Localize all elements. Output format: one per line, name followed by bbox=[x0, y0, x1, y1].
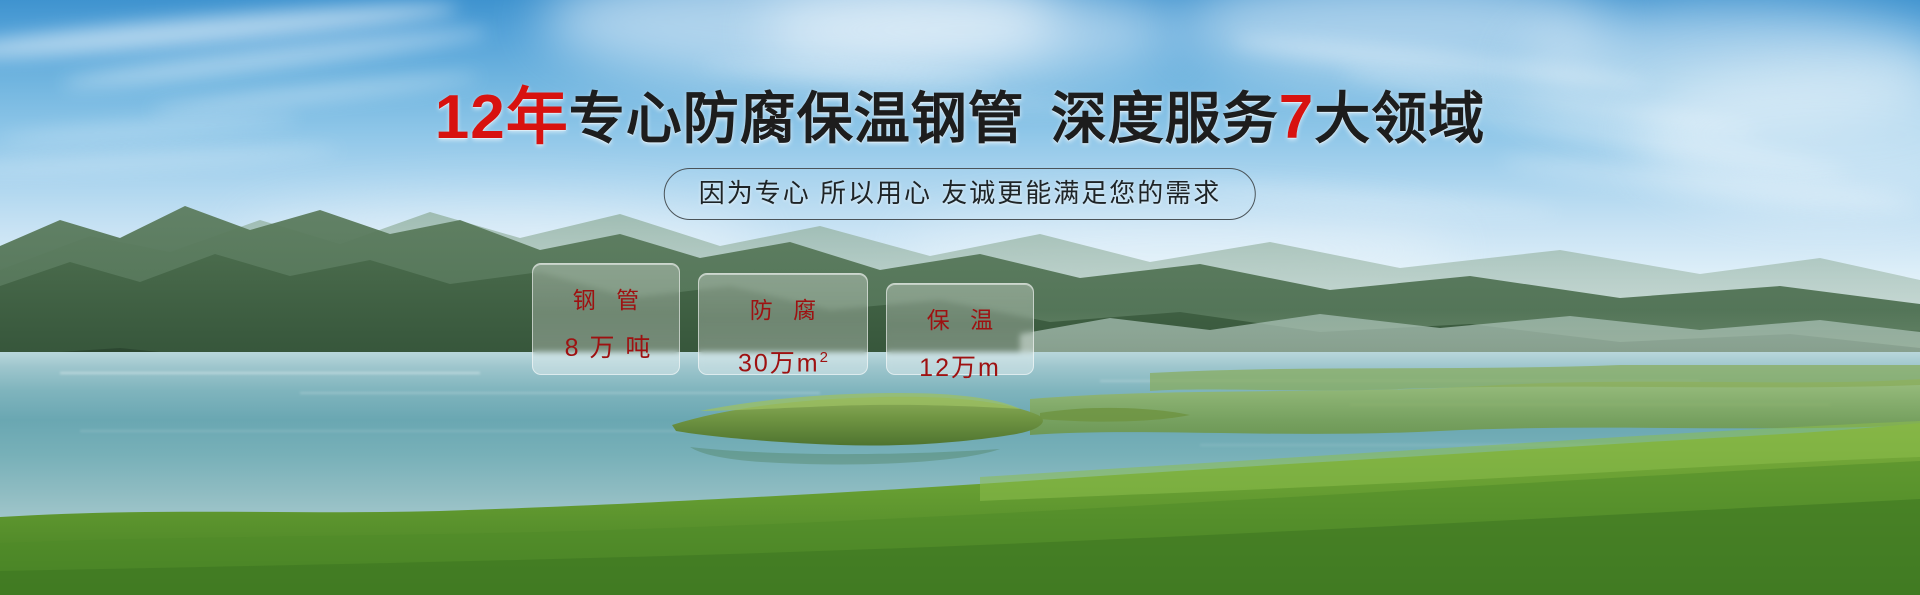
stat-card-value: 12万m bbox=[887, 354, 1033, 382]
hero-banner: 12年专心防腐保温钢管深度服务7大领域 因为专心 所以用心 友诚更能满足您的需求… bbox=[0, 0, 1920, 595]
stat-card-steel-pipe: 钢 管 8 万 吨 bbox=[532, 263, 680, 375]
stat-card-label: 保 温 bbox=[887, 306, 1033, 334]
stat-card-label: 钢 管 bbox=[533, 286, 679, 314]
stat-card-group: 钢 管 8 万 吨 防 腐 30万m2 保 温 12万m bbox=[532, 263, 1034, 375]
headline-years: 12年 bbox=[435, 83, 569, 152]
headline-part2: 深度服务 bbox=[1051, 87, 1279, 150]
stat-card-value-superscript: 2 bbox=[820, 349, 828, 366]
headline-part3: 大领域 bbox=[1314, 87, 1485, 150]
stat-card-anticorrosion: 防 腐 30万m2 bbox=[698, 273, 868, 375]
headline: 12年专心防腐保温钢管深度服务7大领域 bbox=[0, 87, 1920, 150]
headline-fields-number: 7 bbox=[1279, 83, 1314, 152]
foreground-grass bbox=[0, 365, 1920, 595]
stat-card-value: 30万m2 bbox=[699, 344, 867, 377]
stat-card-value: 8 万 吨 bbox=[533, 334, 679, 362]
subtitle-pill: 因为专心 所以用心 友诚更能满足您的需求 bbox=[664, 168, 1256, 220]
stat-card-value-text: 30万m bbox=[738, 349, 820, 377]
headline-part1: 专心防腐保温钢管 bbox=[569, 87, 1025, 150]
stat-card-insulation: 保 温 12万m bbox=[886, 283, 1034, 375]
stat-card-label: 防 腐 bbox=[699, 296, 867, 324]
